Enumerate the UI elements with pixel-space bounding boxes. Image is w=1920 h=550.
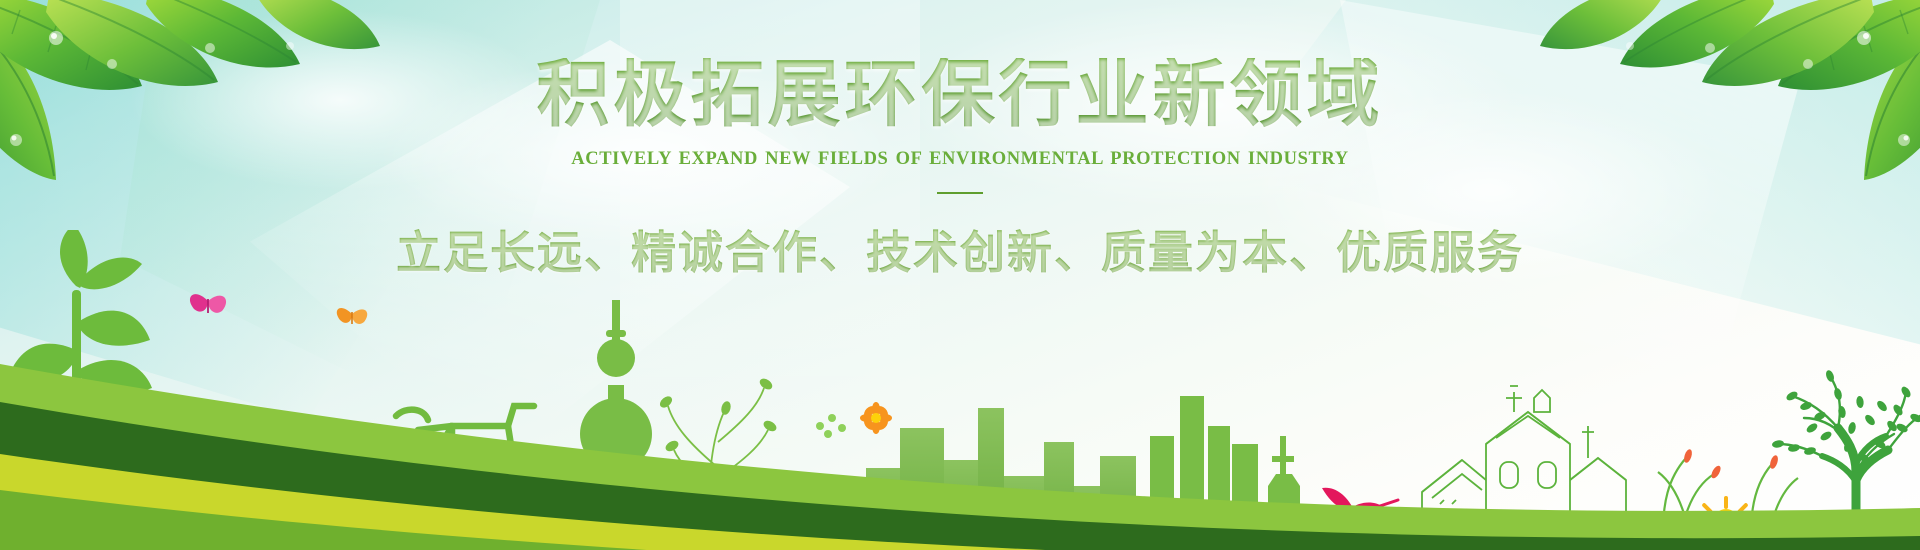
butterfly-pink [190, 294, 226, 313]
butterfly-orange [337, 308, 367, 324]
page-subtitle: ACTIVELY EXPAND NEW FIELDS OF ENVIRONMEN… [0, 149, 1920, 170]
page-tagline: 立足长远、精诚合作、技术创新、质量为本、优质服务 [0, 216, 1920, 281]
eco-banner: 积极拓展环保行业新领域 ACTIVELY EXPAND NEW FIELDS O… [0, 0, 1920, 550]
title-divider [937, 192, 983, 194]
page-title: 积极拓展环保行业新领域 [0, 58, 1920, 131]
wave-ribbons [0, 340, 1920, 550]
headline-block: 积极拓展环保行业新领域 ACTIVELY EXPAND NEW FIELDS O… [0, 0, 1920, 281]
